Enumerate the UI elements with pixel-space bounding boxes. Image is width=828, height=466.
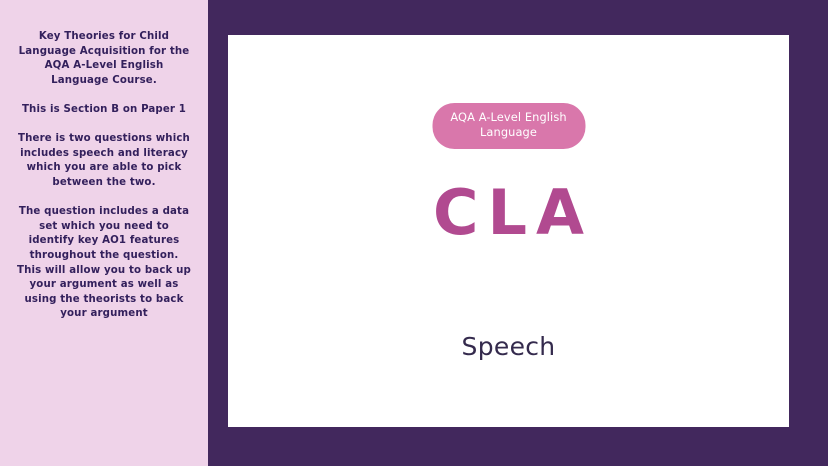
course-badge: AQA A-Level English Language xyxy=(432,103,585,149)
notes-paragraph-3: There is two questions which includes sp… xyxy=(16,132,192,190)
slide-card: AQA A-Level English Language CLA Speech xyxy=(228,35,789,427)
slide-subtitle: Speech xyxy=(228,331,789,363)
slide-title: CLA xyxy=(228,177,789,249)
notes-paragraph-4: The question includes a data set which y… xyxy=(16,205,192,322)
notes-paragraph-1: Key Theories for Child Language Acquisit… xyxy=(16,30,192,88)
notes-paragraph-2: This is Section B on Paper 1 xyxy=(16,103,192,118)
slide-card-content: AQA A-Level English Language CLA Speech xyxy=(228,35,789,427)
notes-spacer xyxy=(16,118,192,133)
speaker-notes-panel: Key Theories for Child Language Acquisit… xyxy=(0,0,208,466)
notes-spacer xyxy=(16,191,192,206)
presentation-slide: Key Theories for Child Language Acquisit… xyxy=(0,0,828,466)
notes-spacer xyxy=(16,88,192,103)
